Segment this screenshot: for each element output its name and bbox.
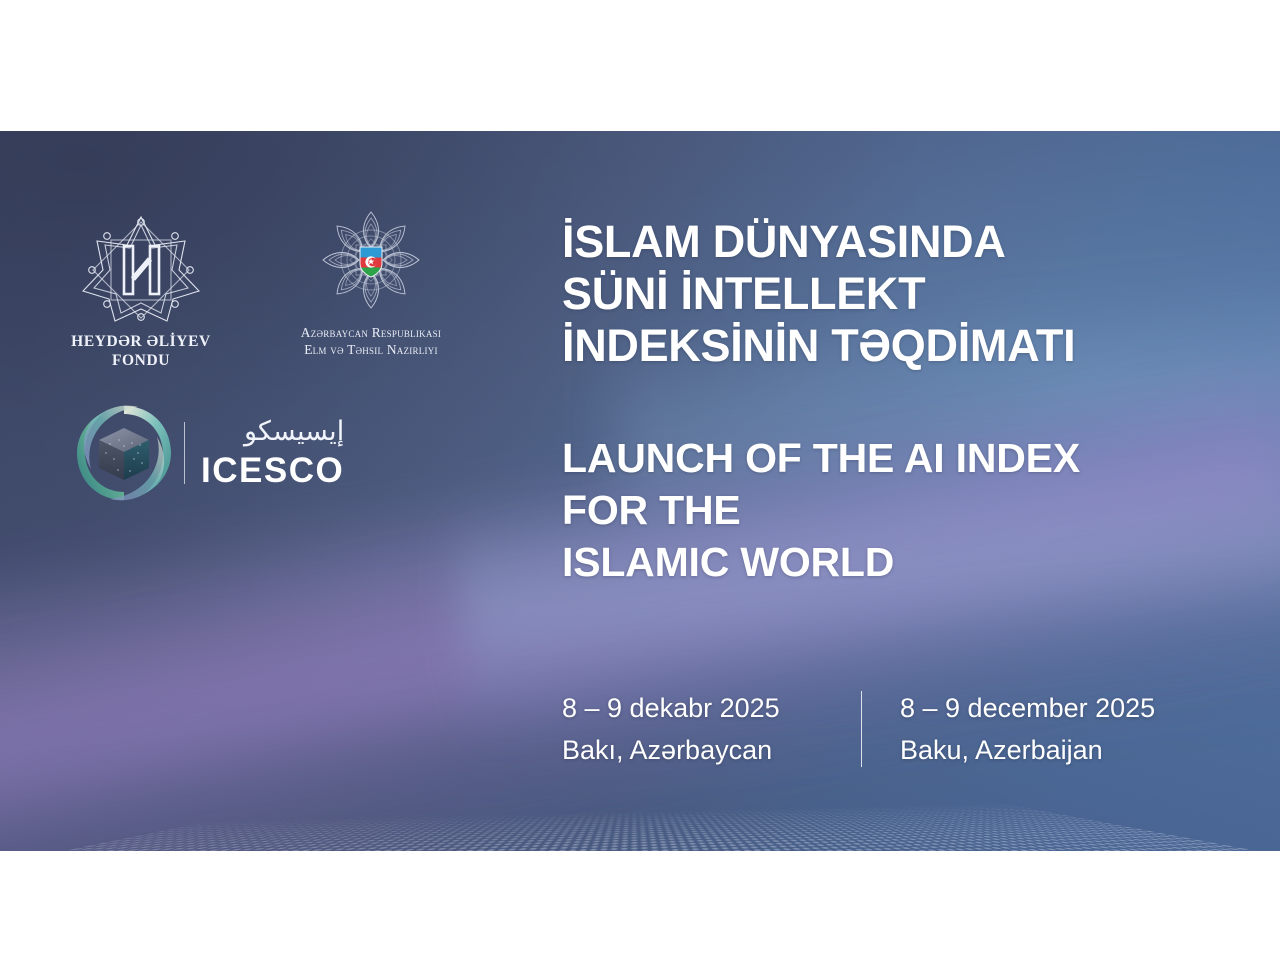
azerbaijan-rosette-emblem-icon (312, 206, 430, 318)
logo-column: HEYDƏR ƏLİYEV FONDU (0, 131, 520, 851)
title-az-line1: İSLAM DÜNYASINDA (562, 216, 1222, 268)
title-en-line3: ISLAMIC WORLD (562, 536, 1242, 588)
event-info: 8 – 9 dekabr 2025 Bakı, Azərbaycan 8 – 9… (562, 687, 1155, 771)
icesco-latin-wordmark: ICESCO (201, 453, 344, 488)
title-az-line2: SÜNİ İNTELLEKT (562, 268, 1222, 320)
title-azerbaijani: İSLAM DÜNYASINDA SÜNİ İNTELLEKT İNDEKSİN… (562, 216, 1222, 372)
title-english: LAUNCH OF THE AI INDEX FOR THE ISLAMIC W… (562, 432, 1242, 588)
title-en-line2: FOR THE (562, 484, 1242, 536)
eight-pointed-star-monogram-icon (81, 213, 201, 325)
logo-moe-caption-line1: Azərbaycan Respublikası (258, 324, 484, 341)
logo-moe-caption-line2: Elm və Təhsil Nazirliyi (258, 341, 484, 358)
event-info-divider (861, 691, 862, 767)
logo-ministry-science-education: Azərbaycan Respublikası Elm və Təhsil Na… (258, 206, 484, 358)
icesco-wordmark: إيسيسكو ICESCO (201, 418, 344, 488)
event-date-en: 8 – 9 december 2025 (900, 687, 1155, 729)
icesco-cube-crescent-icon (72, 401, 176, 505)
event-info-azerbaijani: 8 – 9 dekabr 2025 Bakı, Azərbaycan (562, 687, 861, 771)
text-column: İSLAM DÜNYASINDA SÜNİ İNTELLEKT İNDEKSİN… (562, 131, 1262, 851)
event-banner: HEYDƏR ƏLİYEV FONDU (0, 131, 1280, 851)
logo-icesco: إيسيسكو ICESCO (72, 401, 344, 505)
title-az-line3: İNDEKSİNİN TƏQDİMATI (562, 320, 1222, 372)
logo-heydar-aliyev-foundation: HEYDƏR ƏLİYEV FONDU (57, 213, 225, 371)
event-location-az: Bakı, Azərbaycan (562, 729, 861, 771)
page-root: HEYDƏR ƏLİYEV FONDU (0, 0, 1280, 960)
logo-haf-caption-line1: HEYDƏR ƏLİYEV (57, 332, 225, 351)
title-en-line1: LAUNCH OF THE AI INDEX (562, 432, 1242, 484)
icesco-divider (184, 422, 185, 484)
logo-haf-caption-line2: FONDU (57, 351, 225, 370)
logo-moe-caption: Azərbaycan Respublikası Elm və Təhsil Na… (258, 324, 484, 358)
icesco-arabic-wordmark: إيسيسكو (201, 418, 344, 452)
event-info-english: 8 – 9 december 2025 Baku, Azerbaijan (900, 687, 1155, 771)
logo-haf-caption: HEYDƏR ƏLİYEV FONDU (57, 332, 225, 371)
event-date-az: 8 – 9 dekabr 2025 (562, 687, 861, 729)
event-location-en: Baku, Azerbaijan (900, 729, 1155, 771)
